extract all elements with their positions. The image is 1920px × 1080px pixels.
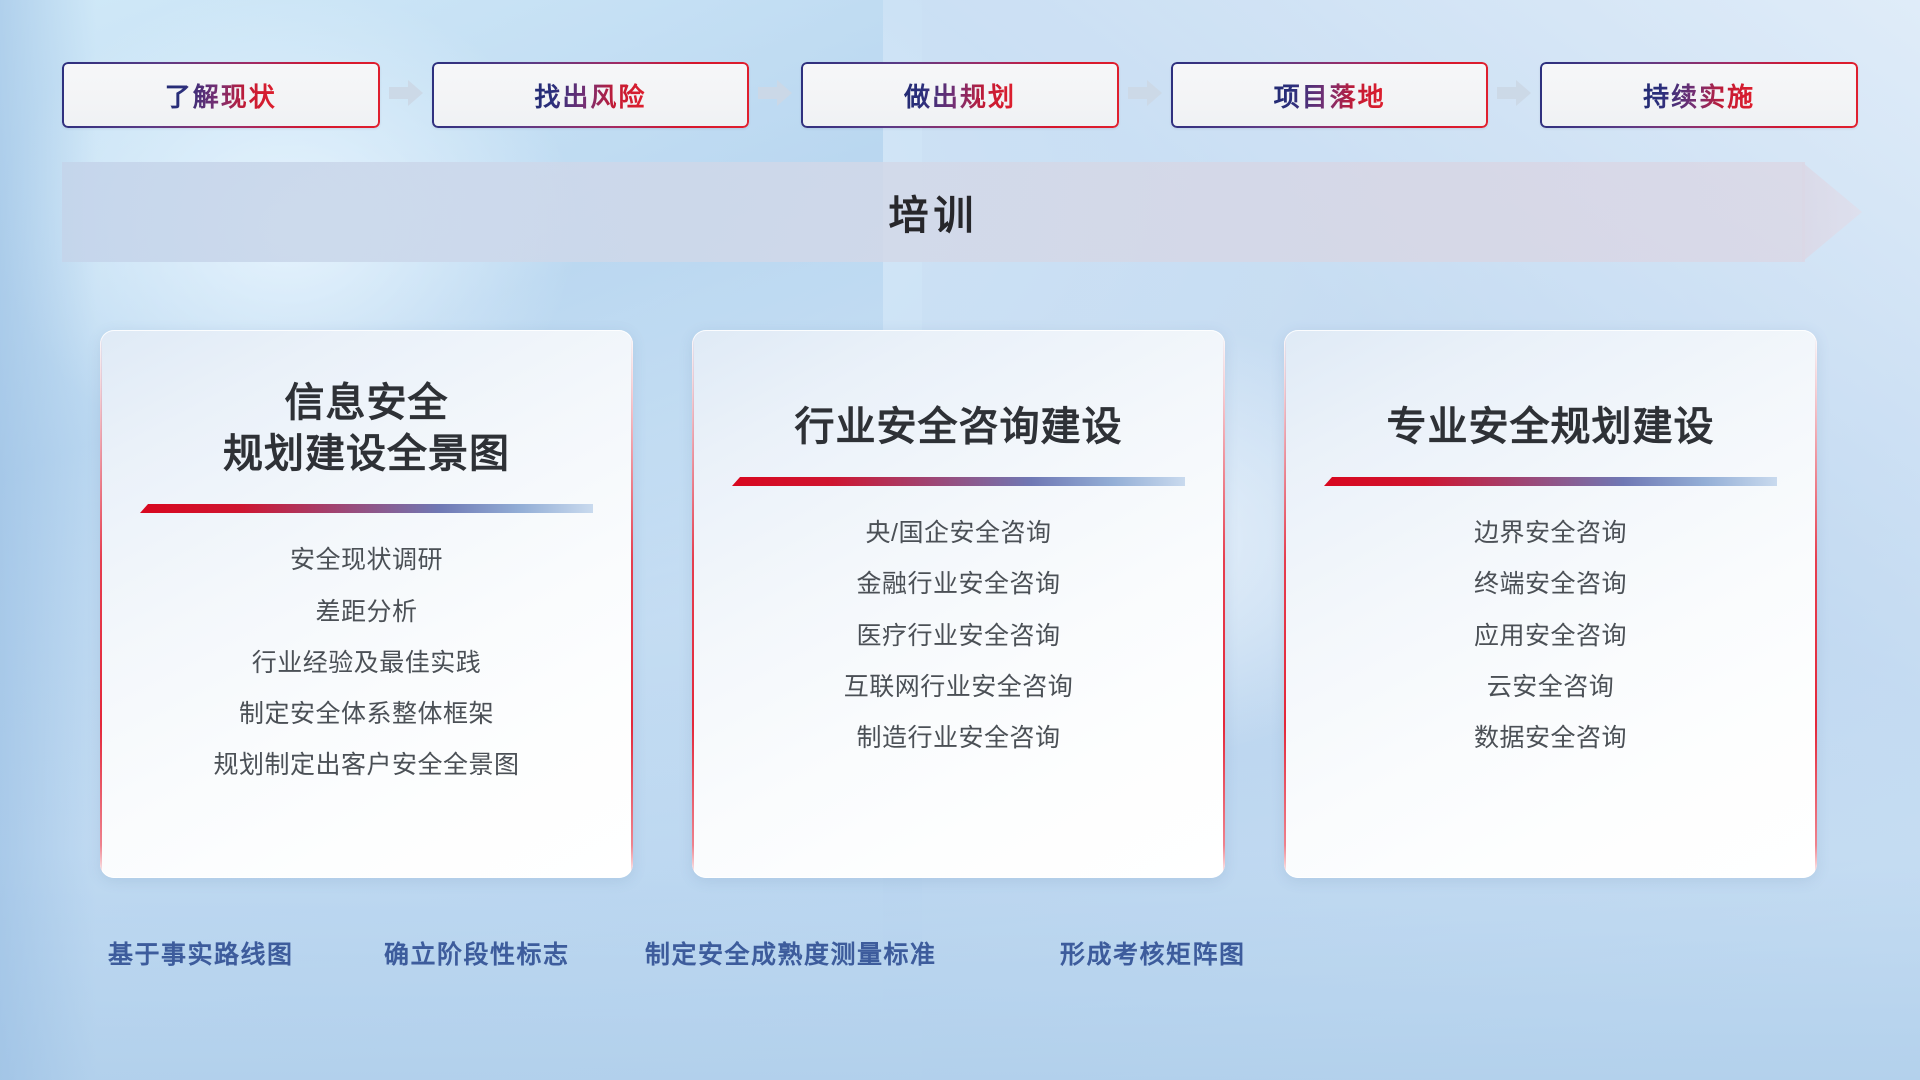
card-inner: 专业安全规划建设边界安全咨询终端安全咨询应用安全咨询云安全咨询数据安全咨询 — [1284, 330, 1817, 878]
caption-row: 基于事实路线图确立阶段性标志制定安全成熟度测量标准形成考核矩阵图 — [0, 935, 1920, 985]
process-step-5[interactable]: 持续实施 — [1540, 62, 1858, 128]
card-list-item[interactable]: 安全现状调研 — [290, 542, 443, 578]
card-divider — [732, 475, 1185, 489]
caption-3: 制定安全成熟度测量标准 — [645, 935, 937, 971]
card-title: 行业安全咨询建设 — [795, 378, 1123, 453]
caption-2: 确立阶段性标志 — [384, 935, 570, 971]
process-step-3[interactable]: 做出规划 — [801, 62, 1119, 128]
arrow-right-icon — [1802, 149, 1862, 275]
card-list-item[interactable]: 应用安全咨询 — [1474, 618, 1627, 654]
process-step-1[interactable]: 了解现状 — [62, 62, 380, 128]
card-list-item[interactable]: 终端安全咨询 — [1474, 566, 1627, 602]
arrow-right-icon — [1128, 80, 1162, 111]
process-step-label: 持续实施 — [1643, 77, 1755, 114]
step-separator — [1119, 62, 1171, 128]
card-divider — [1324, 475, 1777, 489]
process-step-row: 了解现状找出风险做出规划项目落地持续实施 — [62, 62, 1858, 128]
card-list-item[interactable]: 互联网行业安全咨询 — [844, 669, 1074, 705]
card-list-item[interactable]: 制造行业安全咨询 — [856, 720, 1060, 756]
card-title: 信息安全 规划建设全景图 — [223, 378, 510, 480]
card-list-item[interactable]: 差距分析 — [315, 594, 417, 630]
card-list-item[interactable]: 金融行业安全咨询 — [856, 566, 1060, 602]
content-card-3[interactable]: 专业安全规划建设边界安全咨询终端安全咨询应用安全咨询云安全咨询数据安全咨询 — [1284, 330, 1817, 878]
content-card-2[interactable]: 行业安全咨询建设央/国企安全咨询金融行业安全咨询医疗行业安全咨询互联网行业安全咨… — [692, 330, 1225, 878]
card-inner: 信息安全 规划建设全景图安全现状调研差距分析行业经验及最佳实践制定安全体系整体框… — [100, 330, 633, 878]
process-step-label: 了解现状 — [165, 77, 277, 114]
card-item-list: 安全现状调研差距分析行业经验及最佳实践制定安全体系整体框架规划制定出客户安全全景… — [140, 542, 593, 783]
content-card-1[interactable]: 信息安全 规划建设全景图安全现状调研差距分析行业经验及最佳实践制定安全体系整体框… — [100, 330, 633, 878]
card-list-item[interactable]: 边界安全咨询 — [1474, 515, 1627, 551]
gradient-divider — [1324, 475, 1777, 489]
arrow-right-icon — [389, 80, 423, 111]
card-title: 专业安全规划建设 — [1387, 378, 1715, 453]
card-divider — [140, 502, 593, 516]
step-separator — [380, 62, 432, 128]
process-step-label: 项目落地 — [1274, 77, 1386, 114]
card-list-item[interactable]: 央/国企安全咨询 — [866, 515, 1052, 551]
card-item-list: 边界安全咨询终端安全咨询应用安全咨询云安全咨询数据安全咨询 — [1324, 515, 1777, 756]
content-card-row: 信息安全 规划建设全景图安全现状调研差距分析行业经验及最佳实践制定安全体系整体框… — [100, 330, 1900, 878]
card-list-item[interactable]: 行业经验及最佳实践 — [252, 645, 482, 681]
gradient-divider — [732, 475, 1185, 489]
process-step-label: 做出规划 — [904, 77, 1016, 114]
card-list-item[interactable]: 医疗行业安全咨询 — [856, 618, 1060, 654]
training-banner-title: 培训 — [62, 162, 1805, 262]
training-banner: 培训 — [62, 162, 1862, 262]
process-step-label: 找出风险 — [534, 77, 646, 114]
arrow-right-icon — [1497, 80, 1531, 111]
step-separator — [1488, 62, 1540, 128]
card-list-item[interactable]: 云安全咨询 — [1487, 669, 1615, 705]
card-inner: 行业安全咨询建设央/国企安全咨询金融行业安全咨询医疗行业安全咨询互联网行业安全咨… — [692, 330, 1225, 878]
card-list-item[interactable]: 制定安全体系整体框架 — [239, 696, 494, 732]
arrow-right-icon — [758, 80, 792, 111]
caption-4: 形成考核矩阵图 — [1060, 935, 1246, 971]
gradient-divider — [140, 502, 593, 516]
process-step-2[interactable]: 找出风险 — [432, 62, 750, 128]
step-separator — [749, 62, 801, 128]
caption-1: 基于事实路线图 — [108, 935, 294, 971]
card-list-item[interactable]: 数据安全咨询 — [1474, 720, 1627, 756]
slide-stage: 了解现状找出风险做出规划项目落地持续实施 培训 信息安全 规划建设全景图安全现状… — [0, 0, 1920, 1080]
card-item-list: 央/国企安全咨询金融行业安全咨询医疗行业安全咨询互联网行业安全咨询制造行业安全咨… — [732, 515, 1185, 756]
card-list-item[interactable]: 规划制定出客户安全全景图 — [213, 747, 519, 783]
process-step-4[interactable]: 项目落地 — [1171, 62, 1489, 128]
